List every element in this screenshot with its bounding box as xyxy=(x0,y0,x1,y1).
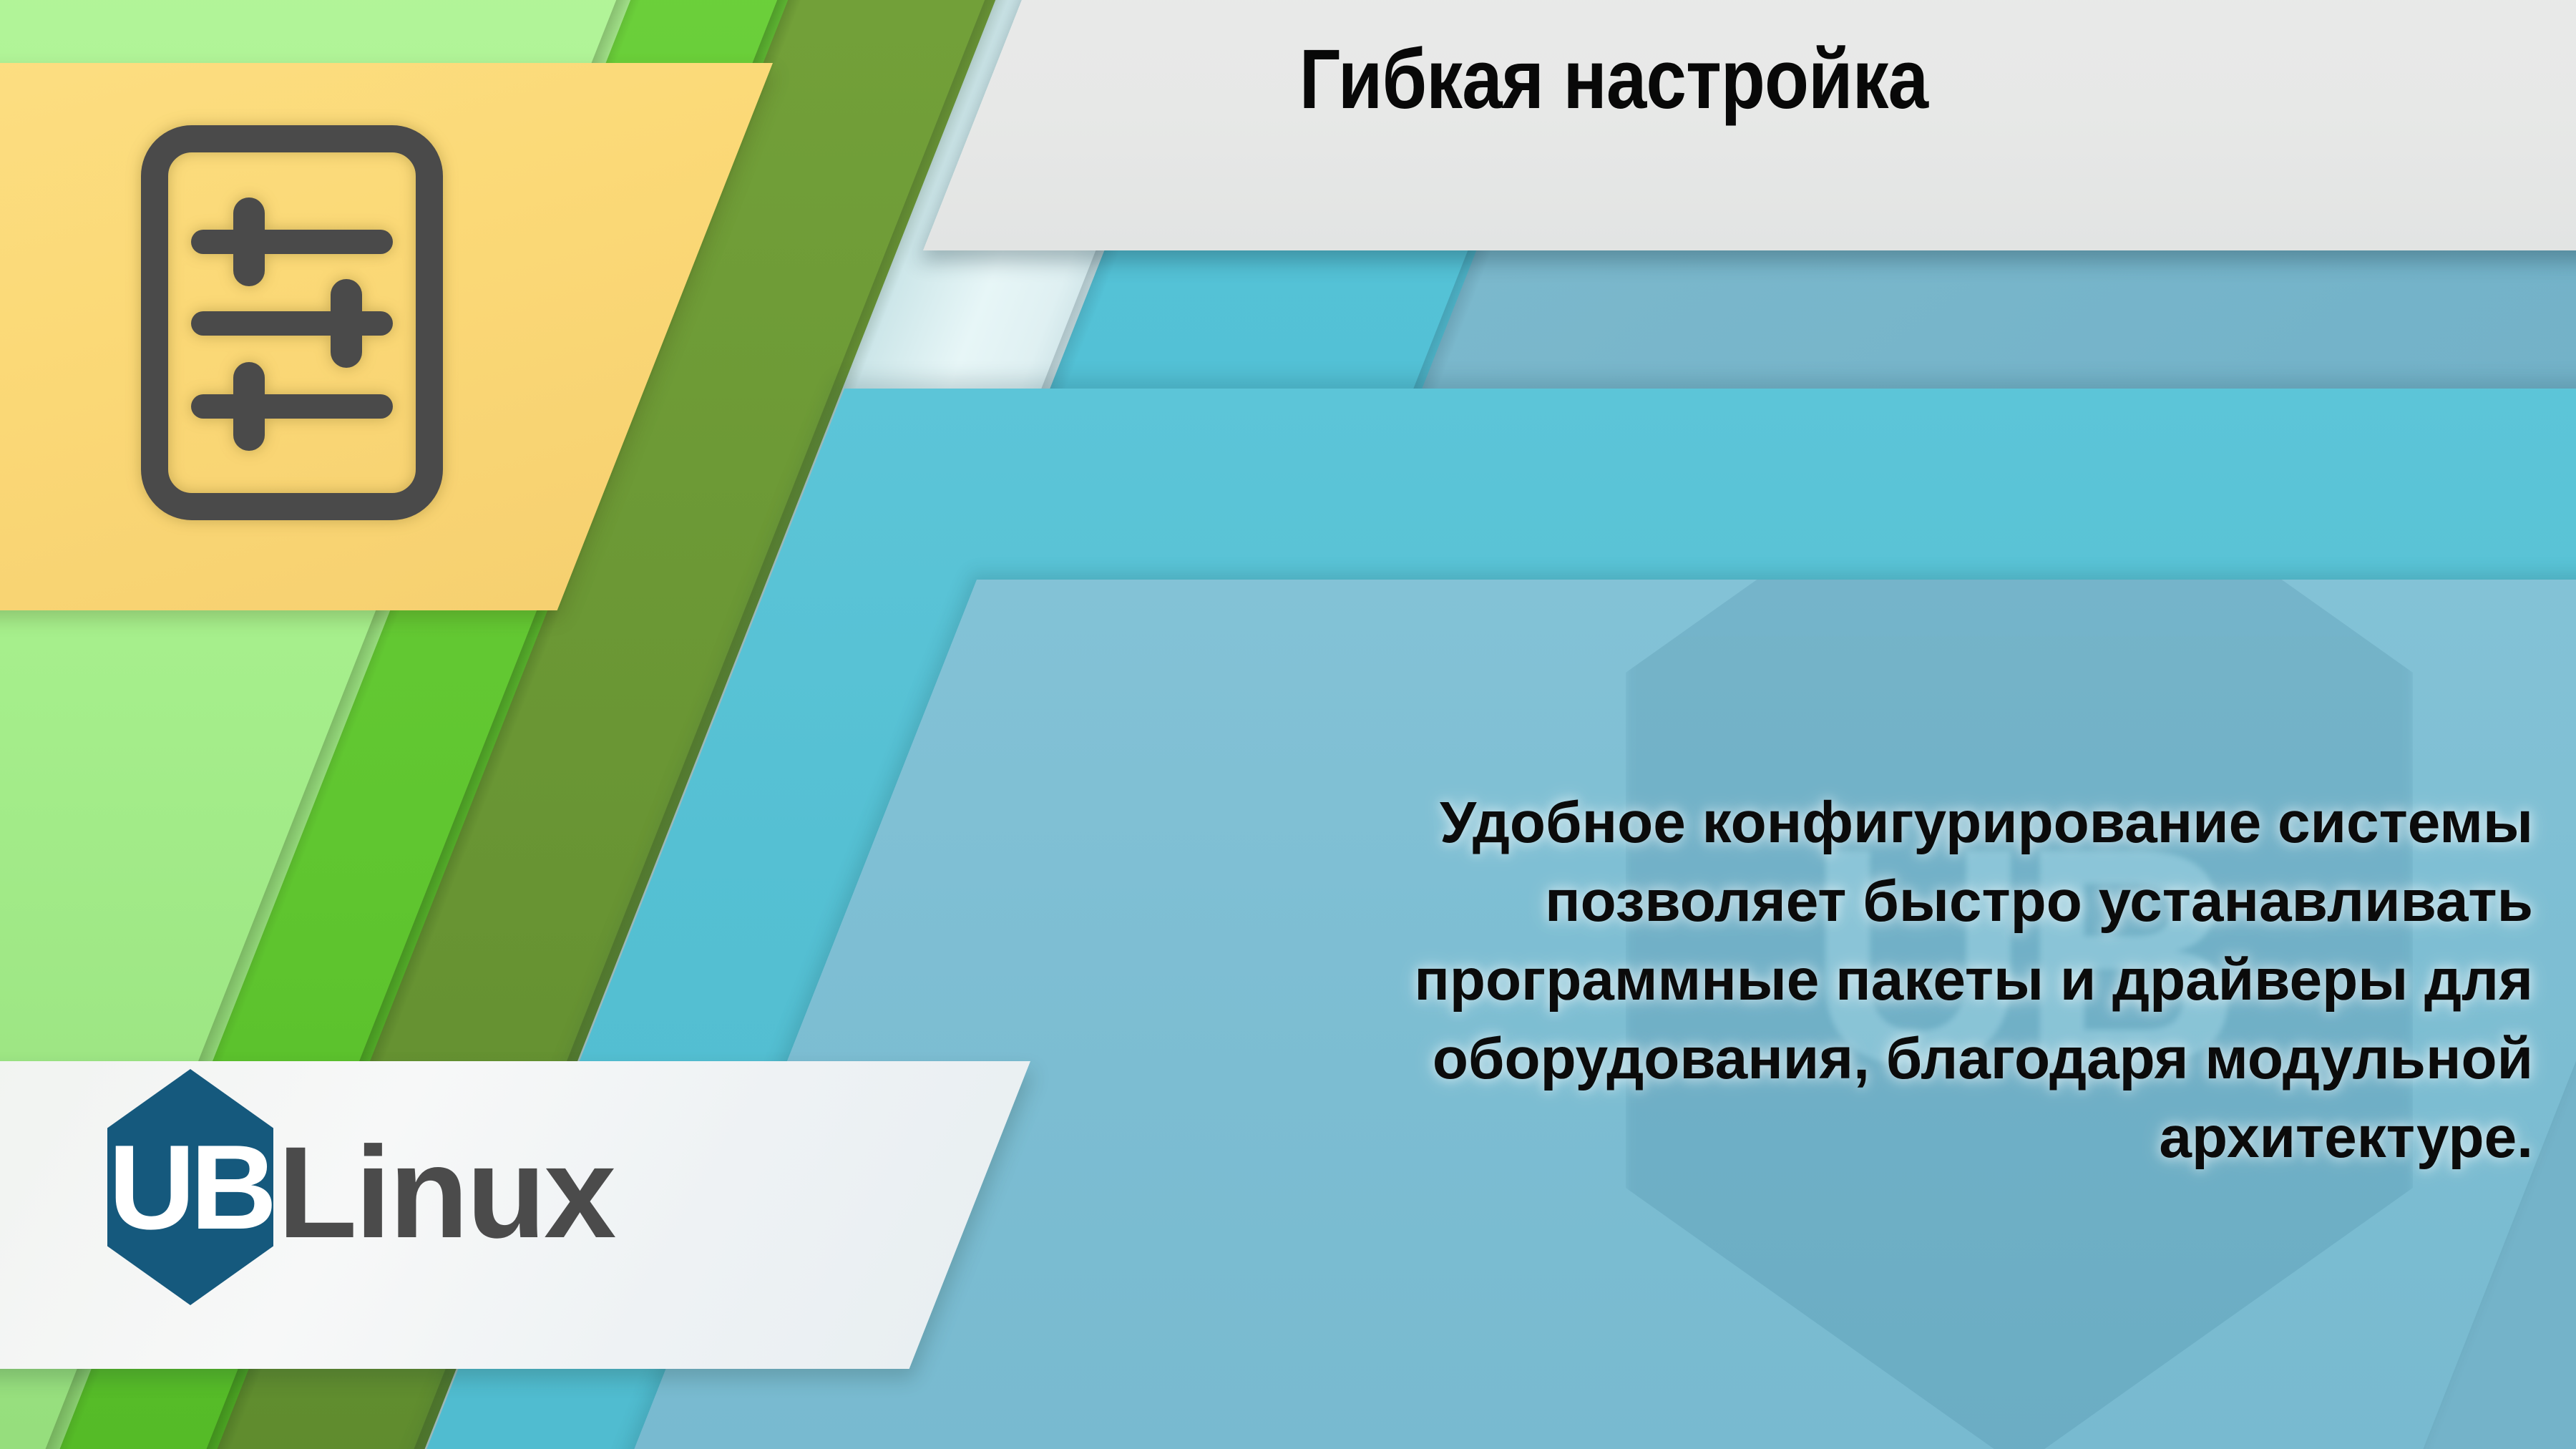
ub-badge-label: UB xyxy=(107,1127,273,1247)
brand-logo: UB Linux xyxy=(107,1069,614,1305)
slide-canvas: UB Удобное конфигурирование системы позв… xyxy=(0,0,2576,1449)
ub-hexagon-badge: UB xyxy=(107,1069,273,1305)
page-title: Гибкая настройка xyxy=(1275,37,1952,122)
title-banner-content: Гибкая настройка xyxy=(923,0,2576,250)
body-paragraph: Удобное конфигурирование системы позволя… xyxy=(1216,784,2549,1176)
sliders-settings-icon xyxy=(135,119,449,527)
logo-wordmark: Linux xyxy=(278,1127,614,1257)
